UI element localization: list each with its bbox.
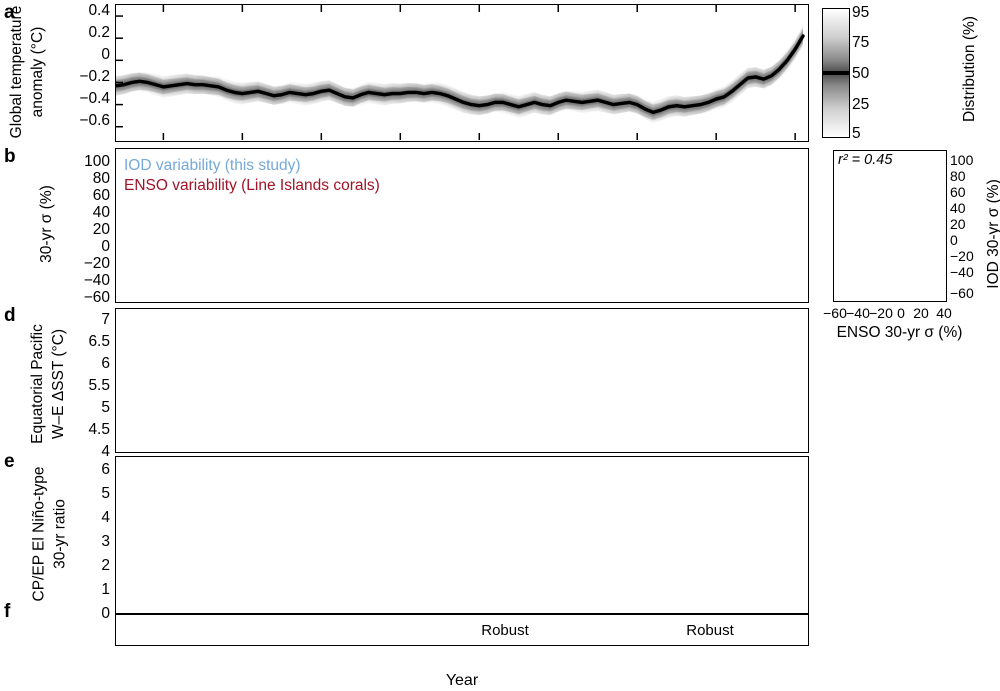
panel-d-ytick-4: 5: [55, 399, 110, 417]
colorbar-tick-4: 5: [852, 125, 884, 143]
panel-e-ytick-6: 0: [55, 605, 110, 623]
panel-a-ytick-3: −0.2: [55, 68, 110, 86]
panel-c-ytick-0: 100: [950, 152, 980, 168]
panel-b-ytick-0: 100: [55, 153, 110, 171]
panel-b-ytick-3: 40: [55, 204, 110, 222]
panel-c-plot: [833, 150, 947, 302]
panel-c-annotation: r² = 0.45: [838, 152, 892, 168]
panel-b-ytick-5: 0: [55, 238, 110, 256]
panel-e-letter: e: [4, 452, 15, 471]
panel-e-ytick-4: 2: [55, 557, 110, 575]
panel-e-ytick-0: 6: [55, 461, 110, 479]
panel-b-ytick-7: −40: [48, 272, 110, 290]
panel-d-ytick-5: 4.5: [55, 421, 110, 439]
panel-c-ytick-7: −40: [950, 264, 984, 280]
panel-e-ytick-3: 3: [55, 533, 110, 551]
panel-a-ytick-2: 0: [55, 46, 110, 64]
panel-a-ytick-1: 0.2: [55, 24, 110, 42]
panel-d-letter: d: [4, 306, 16, 325]
panel-a-ytick-5: −0.6: [55, 112, 110, 130]
panel-d-plot: [115, 308, 809, 453]
panel-d-ytick-3: 5.5: [55, 377, 110, 395]
colorbar-tick-1: 75: [852, 34, 884, 52]
panel-f-letter: f: [4, 602, 10, 621]
panel-e-ytick-5: 1: [55, 581, 110, 599]
panel-a-ytick-4: −0.4: [55, 90, 110, 108]
panel-c-ylabel: IOD 30-yr σ (%): [985, 154, 1000, 314]
panel-a-ylabel-line1: Global temperature: [8, 0, 26, 152]
colorbar-title: Distribution (%): [961, 0, 979, 149]
colorbar-tick-0: 95: [852, 4, 884, 22]
panel-a-plot: [115, 4, 809, 142]
panel-b-ytick-4: 20: [55, 221, 110, 239]
panel-b-ytick-1: 80: [55, 170, 110, 188]
panel-f-bar-label-0: Robust: [455, 622, 555, 639]
figure-root: a Global temperature anomaly (°C) 0.4 0.…: [0, 0, 1000, 691]
panel-b-legend-iod: IOD variability (this study): [124, 157, 301, 175]
panel-a-ytick-0: 0.4: [55, 2, 110, 20]
panel-c-ytick-3: 40: [950, 200, 980, 216]
panel-d-ytick-2: 6: [55, 355, 110, 373]
panel-e-ytick-1: 5: [55, 485, 110, 503]
panel-b-letter: b: [4, 147, 16, 166]
panel-c-xlabel: ENSO 30-yr σ (%): [812, 324, 987, 342]
panel-c-ytick-8: −60: [950, 285, 984, 301]
panel-e-ylabel-line1: CP/EP El Niño-type: [31, 452, 49, 617]
colorbar-tick-2: 50: [852, 65, 884, 83]
panel-d-ytick-0: 7: [55, 311, 110, 329]
panel-e-ytick-2: 4: [55, 509, 110, 527]
panel-c-ytick-4: 20: [950, 216, 980, 232]
panel-e-plot: [115, 456, 809, 614]
panel-f-bar-label-1: Robust: [660, 622, 760, 639]
panel-c-xtick-5: 40: [928, 305, 960, 321]
x-axis-label: Year: [115, 672, 809, 690]
panel-d-ylabel-line1: Equatorial Pacific: [29, 304, 47, 464]
panel-b-ytick-2: 60: [55, 187, 110, 205]
panel-b-legend-enso: ENSO variability (Line Islands corals): [124, 177, 380, 195]
panel-c-ytick-5: 0: [950, 232, 980, 248]
panel-c-ytick-1: 80: [950, 168, 980, 184]
colorbar-tick-3: 25: [852, 96, 884, 114]
panel-b-ytick-6: −20: [48, 255, 110, 273]
panel-d-ytick-1: 6.5: [55, 333, 110, 351]
panel-a-ylabel-line2: anomaly (°C): [29, 0, 47, 152]
panel-c-ytick-2: 60: [950, 184, 980, 200]
panel-c-ytick-6: −20: [950, 248, 984, 264]
colorbar: [822, 8, 850, 138]
